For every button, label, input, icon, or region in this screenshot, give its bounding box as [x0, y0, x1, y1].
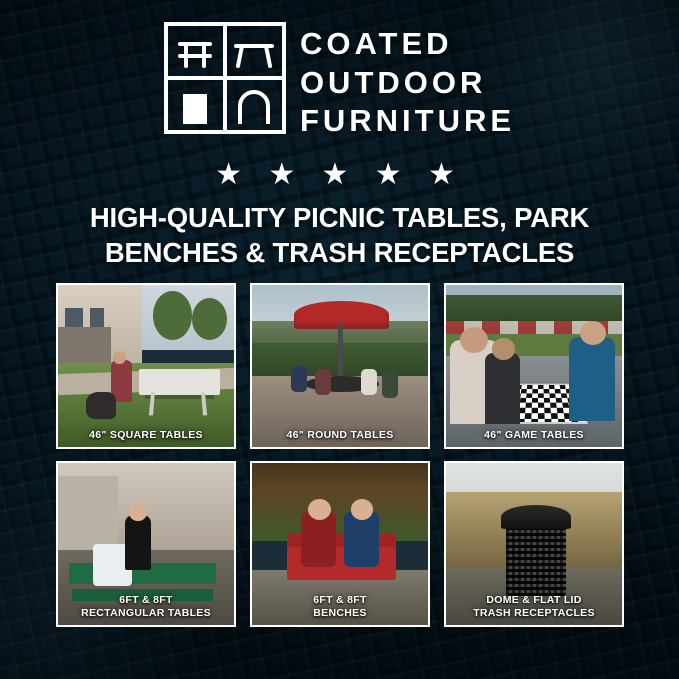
- photo-rectangular-tables: 6FT & 8FT RECTANGULAR TABLES: [56, 461, 236, 627]
- photo-square-tables-caption: 46" SQUARE TABLES: [58, 429, 234, 441]
- product-gallery: 46" SQUARE TABLES 46" ROUND TABLES: [56, 283, 624, 627]
- headline-line-1: HIGH-QUALITY PICNIC TABLES, PARK: [30, 200, 649, 235]
- photo-square-tables-image: [58, 285, 234, 447]
- photo-trash-receptacles: DOME & FLAT LID TRASH RECEPTACLES: [444, 461, 624, 627]
- page-title: HIGH-QUALITY PICNIC TABLES, PARK BENCHES…: [30, 200, 649, 270]
- product-banner: COATED OUTDOOR FURNITURE ★ ★ ★ ★ ★ HIGH-…: [0, 0, 679, 679]
- photo-trash-receptacles-caption-line-2: TRASH RECEPTACLES: [473, 607, 595, 619]
- photo-round-tables: 46" ROUND TABLES: [250, 283, 430, 449]
- coated-outdoor-furniture-logo-icon: [164, 22, 286, 134]
- photo-rectangular-tables-caption-line-1: 6FT & 8FT: [119, 594, 172, 606]
- photo-benches-caption-line-2: BENCHES: [313, 607, 366, 619]
- star-rating: ★ ★ ★ ★ ★: [0, 160, 679, 190]
- photo-round-tables-image: [252, 285, 428, 447]
- brand-name-line-3: FURNITURE: [300, 103, 515, 140]
- photo-benches-caption: 6FT & 8FT BENCHES: [252, 594, 428, 619]
- photo-game-tables-caption: 46" GAME TABLES: [446, 429, 622, 441]
- photo-rectangular-tables-caption: 6FT & 8FT RECTANGULAR TABLES: [58, 594, 234, 619]
- photo-trash-receptacles-caption-line-1: DOME & FLAT LID: [486, 594, 581, 606]
- photo-rectangular-tables-caption-line-2: RECTANGULAR TABLES: [81, 607, 211, 619]
- brand-name-line-2: OUTDOOR: [300, 65, 515, 102]
- headline-line-2: BENCHES & TRASH RECEPTACLES: [30, 235, 649, 270]
- brand-name-line-1: COATED: [300, 26, 515, 63]
- photo-trash-receptacles-caption: DOME & FLAT LID TRASH RECEPTACLES: [446, 594, 622, 619]
- photo-square-tables: 46" SQUARE TABLES: [56, 283, 236, 449]
- brand-header: COATED OUTDOOR FURNITURE: [0, 22, 679, 140]
- photo-benches-caption-line-1: 6FT & 8FT: [313, 594, 366, 606]
- photo-game-tables: 46" GAME TABLES: [444, 283, 624, 449]
- photo-game-tables-image: [446, 285, 622, 447]
- photo-round-tables-caption: 46" ROUND TABLES: [252, 429, 428, 441]
- brand-wordmark: COATED OUTDOOR FURNITURE: [300, 22, 515, 140]
- photo-benches: 6FT & 8FT BENCHES: [250, 461, 430, 627]
